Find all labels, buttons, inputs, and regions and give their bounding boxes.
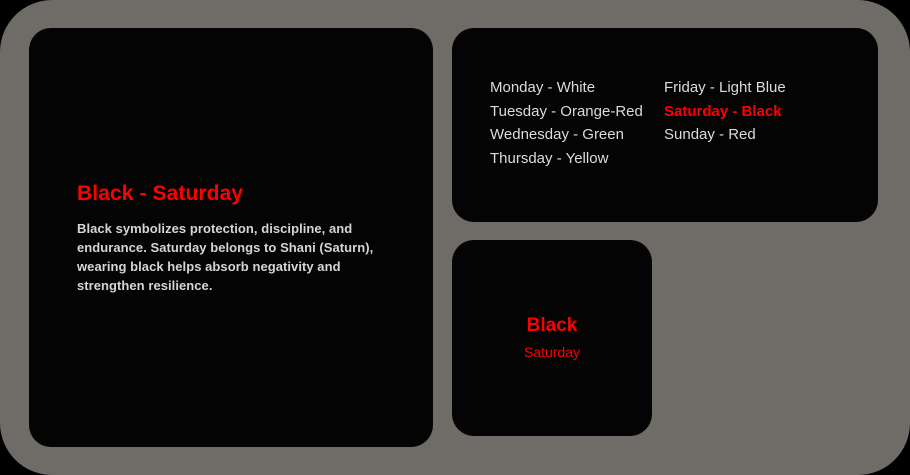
- list-item-selected[interactable]: Saturday - Black: [664, 100, 878, 124]
- list-item[interactable]: Tuesday - Orange-Red: [490, 100, 658, 124]
- app-frame: Black - Saturday Black symbolizes protec…: [0, 0, 910, 475]
- swatch-day-name: Saturday: [524, 343, 580, 361]
- swatch-color-name: Black: [527, 314, 578, 337]
- list-item[interactable]: Monday - White: [490, 76, 658, 100]
- color-detail-card: Black - Saturday Black symbolizes protec…: [29, 28, 433, 447]
- legend-column-left: Monday - White Tuesday - Orange-Red Wedn…: [452, 76, 658, 170]
- weekday-color-legend: Monday - White Tuesday - Orange-Red Wedn…: [452, 76, 878, 170]
- color-detail-description: Black symbolizes protection, discipline,…: [77, 219, 385, 295]
- list-item[interactable]: Wednesday - Green: [490, 123, 658, 147]
- legend-column-right: Friday - Light Blue Saturday - Black Sun…: [658, 76, 878, 170]
- list-item[interactable]: Thursday - Yellow: [490, 147, 658, 171]
- list-item[interactable]: Sunday - Red: [664, 123, 878, 147]
- color-swatch-card: Black Saturday: [452, 240, 652, 436]
- color-detail-title: Black - Saturday: [77, 181, 385, 207]
- screen: Black - Saturday Black symbolizes protec…: [0, 0, 910, 475]
- list-item[interactable]: Friday - Light Blue: [664, 76, 878, 100]
- weekday-color-legend-panel: Monday - White Tuesday - Orange-Red Wedn…: [452, 28, 878, 222]
